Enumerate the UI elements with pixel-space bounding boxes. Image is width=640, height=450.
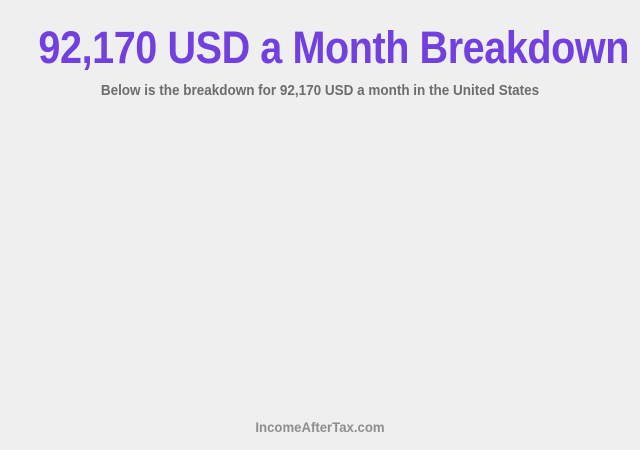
chart-empty-canvas [0, 118, 640, 403]
page-subtitle: Below is the breakdown for 92,170 USD a … [22, 72, 617, 100]
breakdown-page: 92,170 USD a Month Breakdown Below is th… [0, 0, 640, 450]
site-watermark: IncomeAfterTax.com [19, 419, 621, 435]
chart-plot-area [0, 118, 640, 403]
chart-footer: IncomeAfterTax.com [0, 419, 640, 435]
chart-header: 92,170 USD a Month Breakdown Below is th… [0, 0, 640, 100]
page-title: 92,170 USD a Month Breakdown [38, 0, 601, 72]
